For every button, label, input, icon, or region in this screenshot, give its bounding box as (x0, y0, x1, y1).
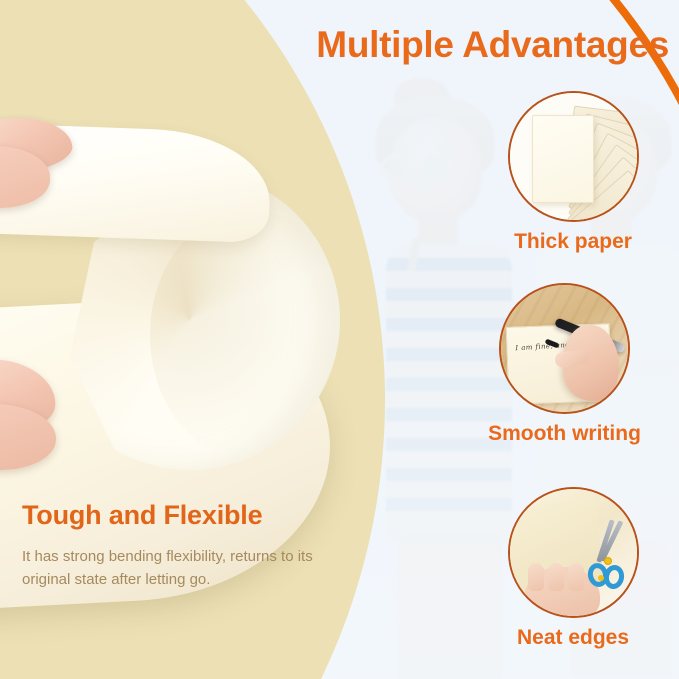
page-title: Multiple Advantages (316, 24, 669, 66)
shoulder-strap (407, 238, 421, 273)
sunglasses-bridge (412, 164, 422, 168)
left-copy-block: Tough and Flexible It has strong bending… (22, 500, 352, 592)
left-body-text: It has strong bending flexibility, retur… (22, 545, 352, 592)
head (390, 118, 482, 222)
scissors-cutting-icon (508, 487, 639, 618)
scissors (582, 521, 630, 593)
feature-label: Thick paper (473, 230, 673, 254)
feature-thick-paper: Thick paper (473, 91, 673, 254)
feature-smooth-writing: I am fine, and Smooth writing (457, 283, 672, 446)
feature-neat-edges: Neat edges (473, 487, 673, 650)
hair-bun (394, 78, 450, 118)
neck (418, 212, 458, 256)
feature-label: Smooth writing (457, 422, 672, 446)
sheet-shading (150, 210, 350, 460)
feature-label: Neat edges (473, 626, 673, 650)
hand-writing-icon: I am fine, and (499, 283, 630, 414)
sunglasses-lens-right (418, 154, 452, 182)
handwriting-text: I am fine, and (515, 341, 570, 352)
sunglasses-lens-left (380, 154, 414, 182)
paper-stack-icon (508, 91, 639, 222)
left-heading: Tough and Flexible (22, 500, 352, 531)
promo-banner: Multiple Advantages Tough and Flexible I… (0, 0, 679, 679)
